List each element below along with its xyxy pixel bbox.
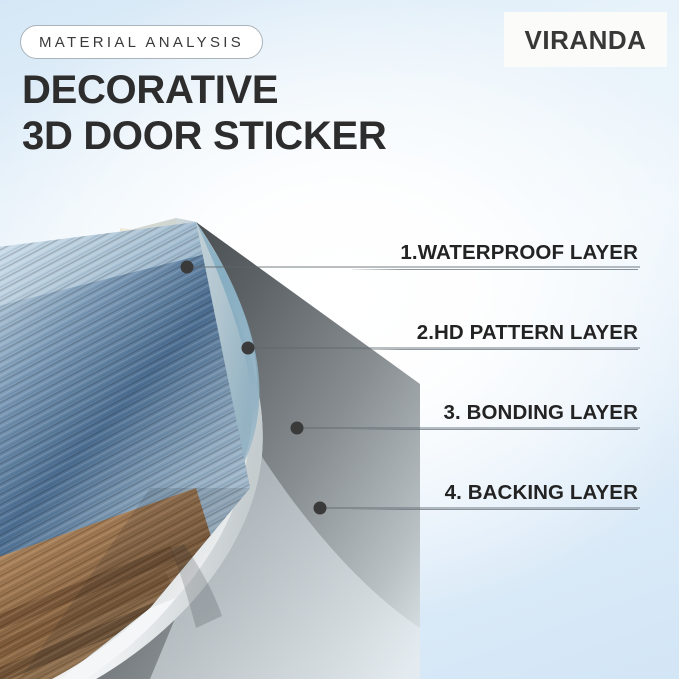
material-analysis-badge: MATERIAL ANALYSIS — [20, 25, 263, 59]
leader-dot-2 — [242, 342, 255, 355]
callout-label-3: 3. BONDING LAYER — [352, 402, 638, 429]
callout-rule-2 — [352, 349, 638, 350]
headline-line-2: 3D DOOR STICKER — [22, 114, 386, 160]
callout-label-1: 1.WATERPROOF LAYER — [352, 242, 638, 269]
callout-rule-3 — [352, 429, 638, 430]
callout-label-2: 2.HD PATTERN LAYER — [352, 322, 638, 349]
callout-bonding-layer: 3. BONDING LAYER — [352, 402, 638, 430]
callout-rule-1 — [352, 269, 638, 270]
badge-label: MATERIAL ANALYSIS — [39, 34, 244, 51]
callout-rule-4 — [352, 509, 638, 510]
leader-dot-1 — [181, 261, 194, 274]
leader-dot-3 — [291, 422, 304, 435]
brand-logo: VIRANDA — [504, 12, 667, 67]
callout-label-4: 4. BACKING LAYER — [352, 482, 638, 509]
page-title: DECORATIVE 3D DOOR STICKER — [22, 68, 386, 159]
callout-waterproof-layer: 1.WATERPROOF LAYER — [352, 242, 638, 270]
brand-name: VIRANDA — [525, 27, 647, 53]
callout-hd-pattern-layer: 2.HD PATTERN LAYER — [352, 322, 638, 350]
headline-line-1: DECORATIVE — [22, 68, 278, 112]
callout-backing-layer: 4. BACKING LAYER — [352, 482, 638, 510]
leader-dot-4 — [314, 502, 327, 515]
infographic-canvas: 1.WATERPROOF LAYER 2.HD PATTERN LAYER 3.… — [0, 0, 679, 679]
